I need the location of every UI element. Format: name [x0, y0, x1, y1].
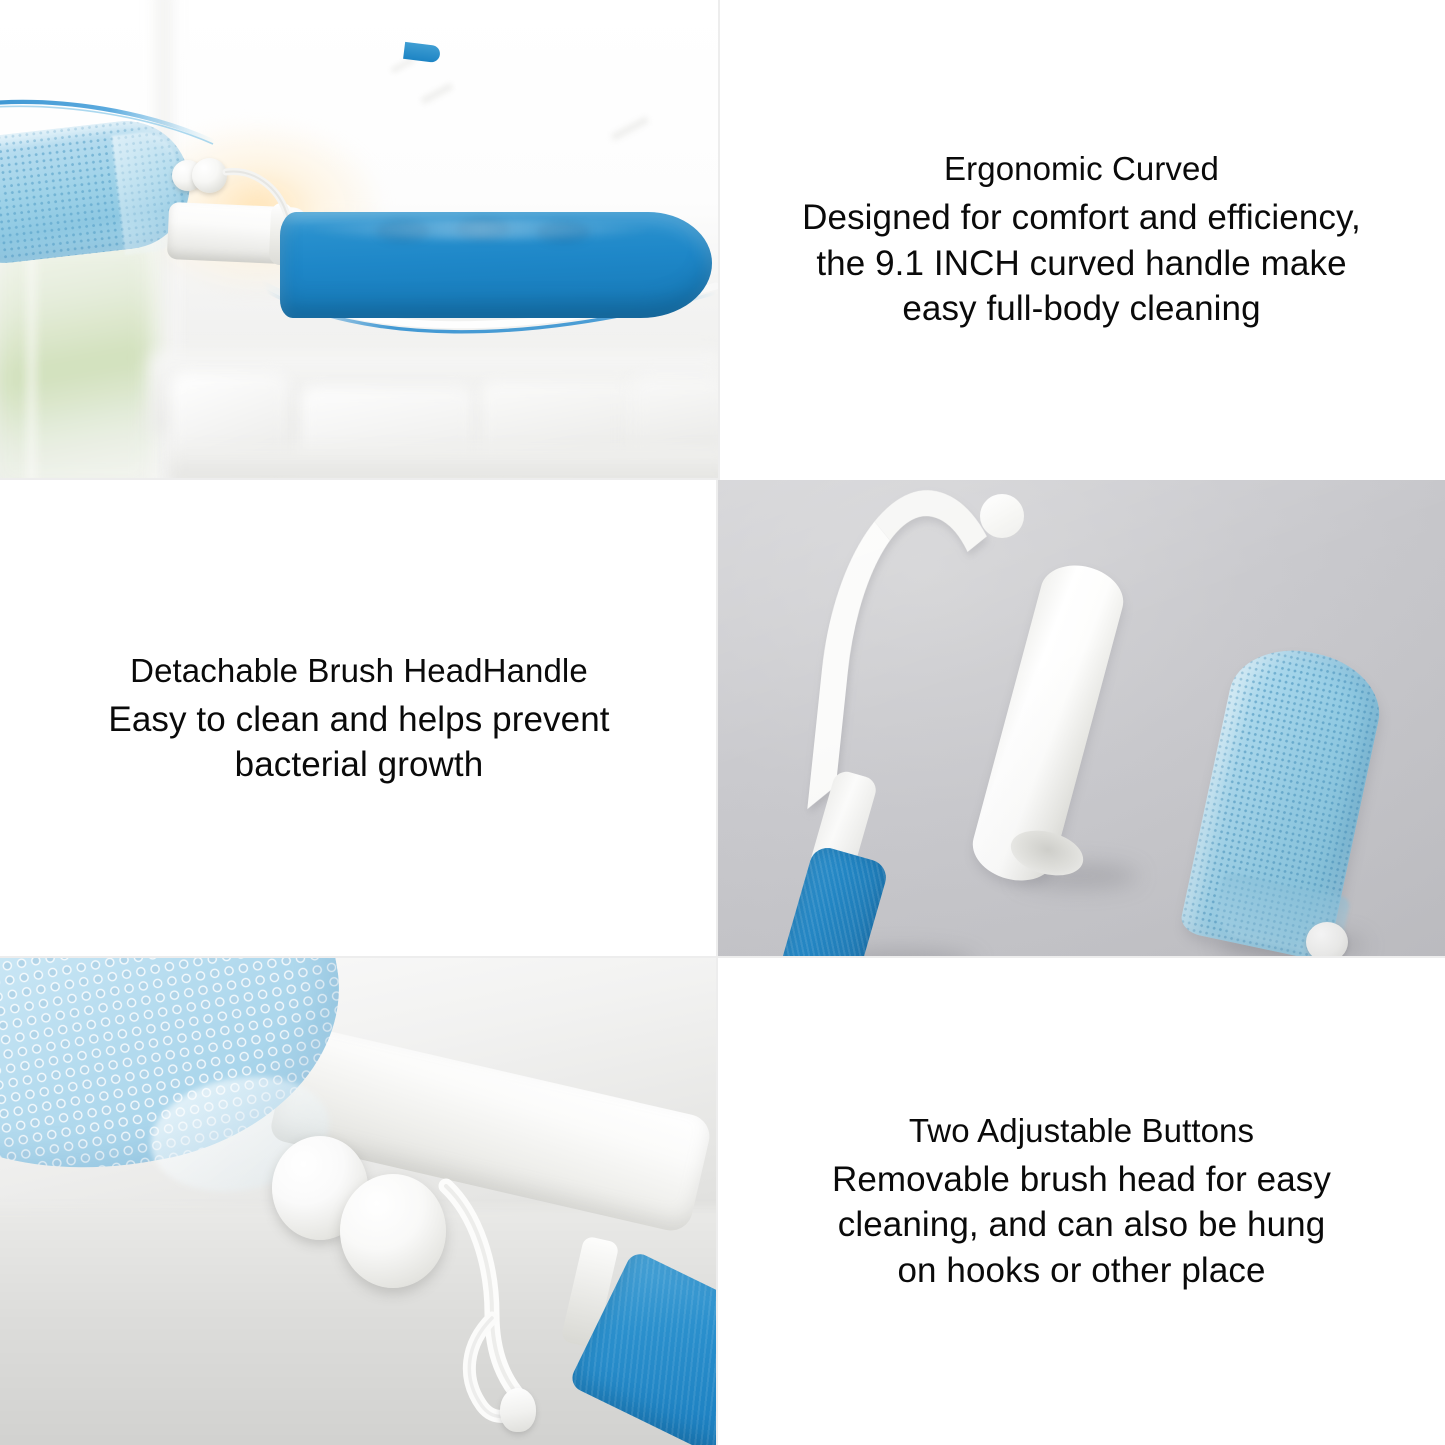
description-line: bacterial growth: [108, 742, 609, 788]
feature-two-adjustable-buttons: Two Adjustable Buttons Removable brush h…: [718, 958, 1445, 1445]
hero-product-photo: [0, 0, 718, 480]
description-line: cleaning, and can also be hung: [832, 1202, 1331, 1248]
feature-detachable-brush-head: Detachable Brush HeadHandle Easy to clea…: [0, 480, 718, 958]
description-line: Removable brush head for easy: [832, 1157, 1331, 1203]
feature-description: Easy to clean and helps prevent bacteria…: [108, 697, 609, 788]
hanging-cord-loop: [380, 1168, 718, 1445]
panel-divider-horizontal: [0, 956, 718, 958]
infographic-sheet: Ergonomic Curved Designed for comfort an…: [0, 0, 1445, 1445]
feature-ergonomic-curved: Ergonomic Curved Designed for comfort an…: [718, 0, 1445, 480]
feature-headline: Ergonomic Curved: [944, 148, 1219, 191]
disassembled-parts-photo: [718, 480, 1445, 958]
parts-vignette: [718, 480, 1445, 958]
panel-divider-horizontal: [718, 956, 1445, 958]
cord-knot: [500, 1388, 536, 1432]
description-line: easy full-body cleaning: [802, 286, 1361, 332]
feature-description: Designed for comfort and efficiency, the…: [802, 195, 1361, 332]
panel-divider-vertical: [718, 0, 720, 480]
description-line: Designed for comfort and efficiency,: [802, 195, 1361, 241]
panel-divider-vertical: [716, 480, 718, 958]
handle-sheen: [304, 221, 656, 239]
description-line: the 9.1 INCH curved handle make: [802, 241, 1361, 287]
feature-headline: Detachable Brush HeadHandle: [130, 650, 588, 693]
panel-divider-vertical: [716, 958, 718, 1445]
blue-curved-handle: [280, 212, 712, 318]
feature-description: Removable brush head for easy cleaning, …: [832, 1157, 1331, 1294]
buttons-macro-photo: [0, 958, 718, 1445]
panel-divider-horizontal: [0, 478, 718, 480]
feature-headline: Two Adjustable Buttons: [909, 1110, 1254, 1153]
description-line: on hooks or other place: [832, 1248, 1331, 1294]
description-line: Easy to clean and helps prevent: [108, 697, 609, 743]
